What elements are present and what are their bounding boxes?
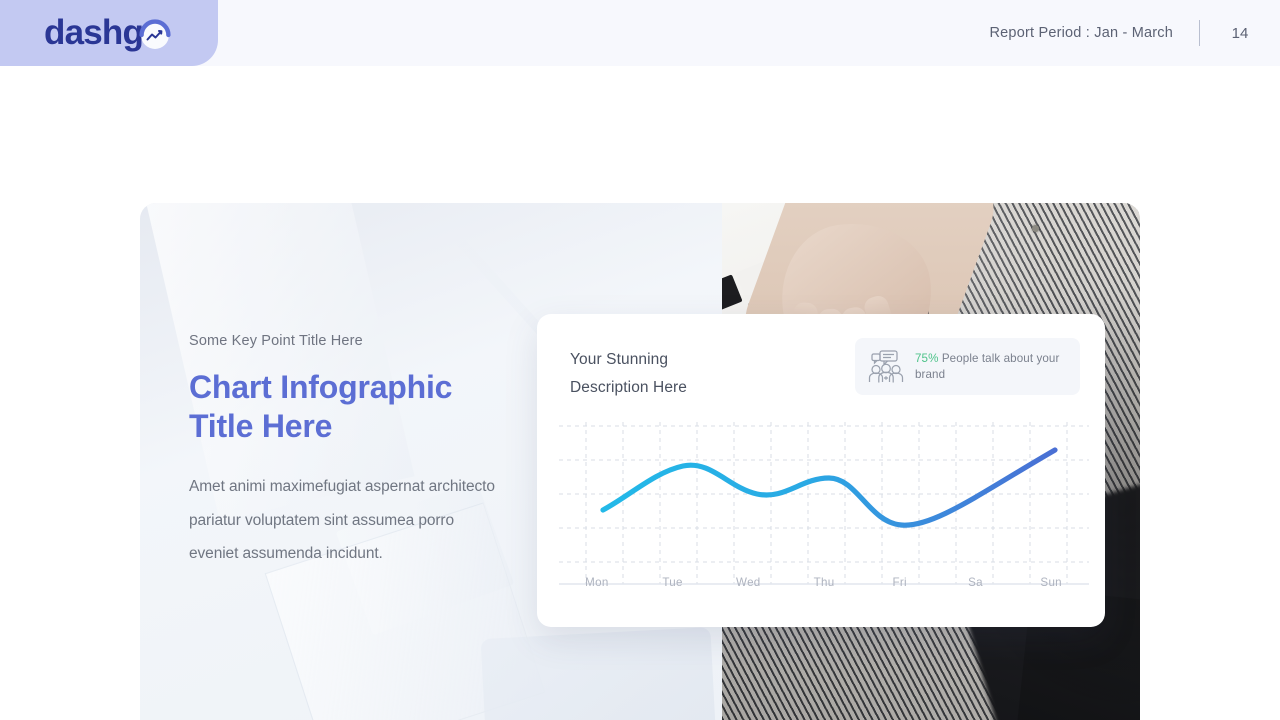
chart-x-axis-labels: Mon Tue Wed Thu Fri Sa Sun	[559, 576, 1089, 589]
chart-gridlines	[559, 422, 1089, 584]
shirt-button	[1032, 225, 1039, 232]
chart-svg	[559, 422, 1089, 590]
x-label: Sun	[1013, 576, 1089, 589]
chart-circle-icon	[138, 18, 172, 52]
page-number: 14	[1200, 25, 1280, 42]
card-heading: Your Stunning Description Here	[570, 346, 687, 402]
eyebrow-label: Some Key Point Title Here	[189, 333, 509, 349]
logo-text: dashg	[44, 12, 143, 54]
header-right: Report Period : Jan - March 14	[990, 0, 1280, 66]
body-paragraph: Amet animi maximefugiat aspernat archite…	[189, 470, 501, 571]
x-label: Tue	[635, 576, 711, 589]
report-period-label: Report Period : Jan - March	[990, 25, 1200, 41]
chart-card: Your Stunning Description Here	[537, 314, 1105, 627]
page-title: Chart Infographic Title Here	[189, 368, 509, 446]
logo-band: dashg	[0, 0, 218, 66]
slide-header: dashg Report Period : Jan - March 14	[0, 0, 1280, 66]
x-label: Fri	[862, 576, 938, 589]
stat-badge[interactable]: 75% People talk about your brand	[855, 338, 1080, 395]
chart-line-series	[603, 450, 1055, 525]
x-label: Sa	[938, 576, 1014, 589]
x-label: Mon	[559, 576, 635, 589]
card-title-line-1: Your Stunning	[570, 346, 687, 374]
decor-monitor	[481, 627, 720, 720]
stat-percent: 75%	[915, 352, 939, 365]
x-label: Thu	[786, 576, 862, 589]
stat-text: 75% People talk about your brand	[915, 351, 1068, 383]
x-label: Wed	[710, 576, 786, 589]
left-text-block: Some Key Point Title Here Chart Infograp…	[189, 333, 509, 571]
people-speech-bubbles-icon	[867, 348, 905, 386]
card-title-line-2: Description Here	[570, 374, 687, 402]
brand-logo[interactable]: dashg	[44, 12, 172, 54]
line-chart[interactable]	[559, 422, 1089, 590]
slide-root: dashg Report Period : Jan - March 14	[0, 0, 1280, 720]
